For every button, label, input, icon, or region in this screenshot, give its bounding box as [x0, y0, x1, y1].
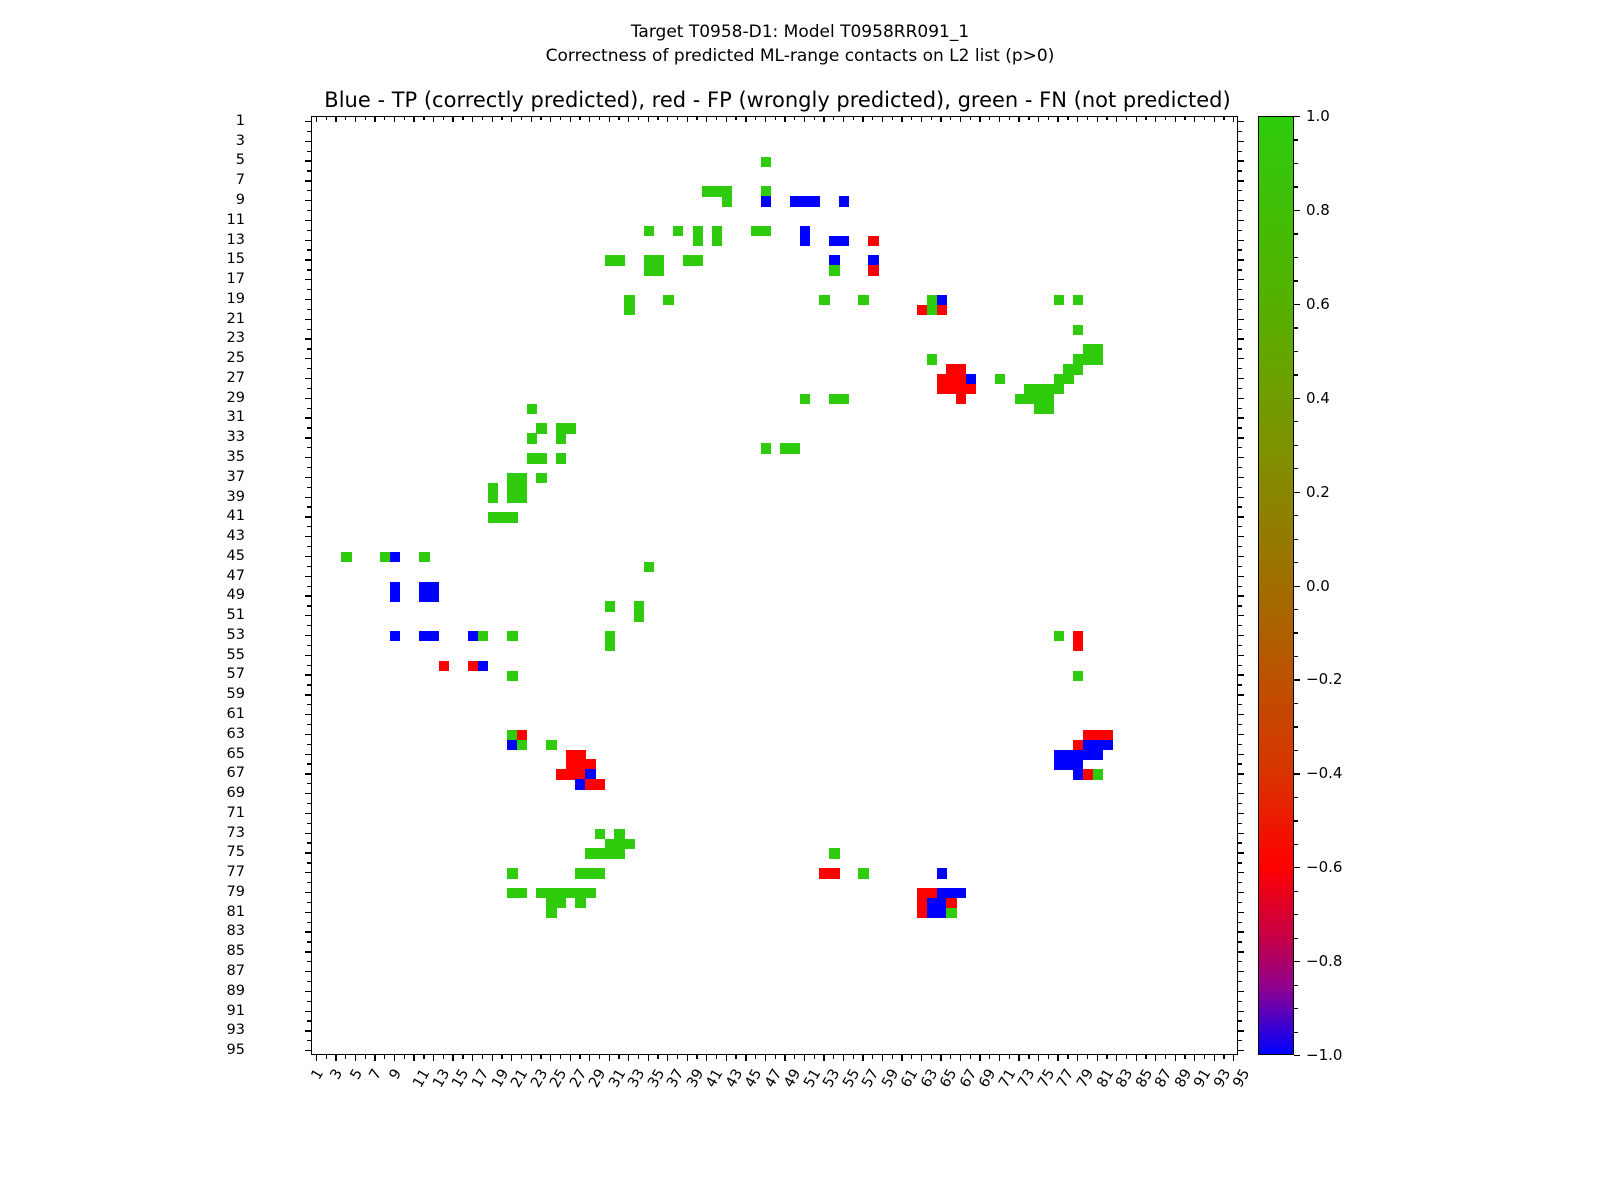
colorbar-tick-mark [1294, 116, 1300, 117]
y-tick-label: 71 [227, 805, 245, 821]
y-tick-mark [1238, 872, 1244, 873]
x-tick-label: 65 [938, 1066, 961, 1090]
y-tick-mark [1238, 862, 1242, 863]
heatmap-cell-green [595, 829, 605, 839]
y-tick-mark [1238, 289, 1242, 290]
colorbar-minor-tick [1294, 679, 1298, 680]
y-tick-mark [1238, 625, 1242, 626]
y-tick-mark [1238, 674, 1244, 675]
heatmap-cell-green [1093, 354, 1103, 364]
heatmap-cell-green [722, 196, 732, 206]
heatmap-cell-green [858, 868, 868, 878]
x-tick-label: 35 [645, 1066, 668, 1090]
x-tick-label: 7 [367, 1066, 385, 1082]
x-tick-label: 43 [723, 1066, 746, 1090]
y-tick-mark [1238, 230, 1242, 231]
y-tick-mark [1238, 467, 1242, 468]
y-tick-label: 75 [227, 844, 245, 860]
y-tick-mark [1238, 823, 1242, 824]
heatmap-cell-green [829, 265, 839, 275]
y-tick-label: 9 [236, 192, 245, 208]
x-tick-label: 93 [1211, 1066, 1234, 1090]
y-tick-mark [1238, 536, 1244, 537]
heatmap-cell-green [693, 255, 703, 265]
heatmap-cell-green [507, 671, 517, 681]
x-tick-label: 5 [348, 1066, 366, 1082]
y-tick-label: 95 [227, 1042, 245, 1058]
heatmap-cell-green [634, 611, 644, 621]
y-tick-mark [1238, 309, 1242, 310]
heatmap-cell-red [956, 394, 966, 404]
y-tick-mark [1238, 922, 1242, 923]
heatmap-cell-green [507, 868, 517, 878]
heatmap-cell-green [527, 433, 537, 443]
y-tick-label: 73 [227, 825, 245, 841]
heatmap-cell-blue [390, 631, 400, 641]
y-tick-mark [1238, 852, 1244, 853]
y-tick-label: 81 [227, 904, 245, 920]
y-tick-mark [1238, 388, 1242, 389]
y-tick-mark [1238, 833, 1244, 834]
y-tick-label: 3 [236, 133, 245, 149]
colorbar-tick-mark [1294, 210, 1300, 211]
y-tick-mark [1238, 655, 1244, 656]
colorbar-minor-tick [1294, 233, 1298, 234]
y-tick-mark [1238, 358, 1244, 359]
y-tick-label: 65 [227, 746, 245, 762]
heatmap-cell-green [605, 631, 615, 641]
y-axis-labels: 1357911131517192123252729313335373941434… [0, 116, 311, 1055]
y-tick-label: 35 [227, 449, 245, 465]
y-tick-label: 45 [227, 548, 245, 564]
y-tick-mark [1238, 892, 1244, 893]
heatmap-cell-green [556, 453, 566, 463]
heatmap-cell-green [517, 483, 527, 493]
x-tick-label: 3 [328, 1066, 346, 1082]
heatmap-cell-blue [800, 226, 810, 236]
heatmap-cell-green [712, 236, 722, 246]
y-tick-label: 61 [227, 706, 245, 722]
x-tick-label: 47 [762, 1066, 785, 1090]
heatmap-cell-green [595, 868, 605, 878]
heatmap-cell-green [790, 443, 800, 453]
colorbar-tick-label: −0.4 [1306, 764, 1342, 782]
y-tick-label: 89 [227, 983, 245, 999]
y-tick-mark [1238, 131, 1242, 132]
heatmap-cell-green [478, 631, 488, 641]
colorbar-minor-tick [1294, 609, 1298, 610]
heatmap-cell-green [536, 453, 546, 463]
heatmap-cell-blue [390, 552, 400, 562]
x-tick-label: 27 [567, 1066, 590, 1090]
y-tick-mark [1238, 220, 1244, 221]
y-tick-label: 17 [227, 271, 245, 287]
x-tick-label: 57 [860, 1066, 883, 1090]
y-tick-mark [1238, 842, 1242, 843]
heatmap-cell-green [556, 898, 566, 908]
colorbar-minor-tick [1294, 914, 1298, 915]
x-tick-label: 69 [977, 1066, 1000, 1090]
y-tick-mark [1238, 249, 1242, 250]
colorbar-minor-tick [1294, 280, 1298, 281]
y-tick-mark [1238, 151, 1242, 152]
y-tick-label: 63 [227, 726, 245, 742]
y-tick-mark [1238, 338, 1244, 339]
colorbar-tick-label: 0.0 [1306, 577, 1330, 595]
heatmap-cell-red [937, 305, 947, 315]
y-tick-label: 67 [227, 765, 245, 781]
y-tick-mark [1238, 417, 1244, 418]
colorbar-minor-tick [1294, 750, 1298, 751]
heatmap-cell-green [624, 295, 634, 305]
heatmap-cell-green [546, 908, 556, 918]
heatmap-cell-green [624, 839, 634, 849]
heatmap-cell-green [634, 601, 644, 611]
y-tick-mark [1238, 576, 1244, 577]
y-tick-mark [1238, 566, 1242, 567]
y-tick-label: 59 [227, 686, 245, 702]
x-tick-label: 23 [528, 1066, 551, 1090]
x-tick-label: 59 [879, 1066, 902, 1090]
heatmap-cell-green [614, 848, 624, 858]
y-tick-mark [1238, 645, 1242, 646]
x-tick-label: 33 [625, 1066, 648, 1090]
y-tick-mark [1238, 506, 1242, 507]
y-tick-label: 83 [227, 923, 245, 939]
heatmap-cell-green [644, 226, 654, 236]
y-tick-mark [1238, 1020, 1242, 1021]
x-tick-label: 37 [664, 1066, 687, 1090]
colorbar-minor-tick [1294, 539, 1298, 540]
y-tick-label: 5 [236, 152, 245, 168]
heatmap-cell-green [673, 226, 683, 236]
heatmap-cell-green [693, 226, 703, 236]
heatmap-cell-blue [478, 661, 488, 671]
y-tick-mark [1238, 497, 1244, 498]
x-tick-label: 25 [547, 1066, 570, 1090]
x-tick-label: 13 [430, 1066, 453, 1090]
colorbar-tick-label: 0.8 [1306, 201, 1330, 219]
y-tick-mark [1238, 912, 1244, 913]
y-tick-label: 79 [227, 884, 245, 900]
contact-map-plot [311, 116, 1238, 1055]
title-line-1: Target T0958-D1: Model T0958RR091_1 [0, 20, 1600, 44]
heatmap-cell-green [488, 493, 498, 503]
colorbar-tick-mark [1294, 586, 1300, 587]
colorbar-minor-tick [1294, 257, 1298, 258]
y-tick-label: 13 [227, 232, 245, 248]
heatmap-cell-blue [956, 888, 966, 898]
y-tick-mark [1238, 704, 1242, 705]
y-tick-mark [1238, 783, 1242, 784]
x-tick-label: 55 [840, 1066, 863, 1090]
figure-root: Target T0958-D1: Model T0958RR091_1 Corr… [0, 0, 1600, 1200]
y-tick-mark [1238, 813, 1244, 814]
x-tick-label: 63 [918, 1066, 941, 1090]
y-tick-mark [1238, 299, 1244, 300]
heatmap-cell-blue [429, 582, 439, 592]
colorbar-minor-tick [1294, 327, 1298, 328]
x-tick-label: 49 [781, 1066, 804, 1090]
y-tick-label: 1 [236, 113, 245, 129]
colorbar-minor-tick [1294, 515, 1298, 516]
y-tick-label: 43 [227, 528, 245, 544]
colorbar-minor-tick [1294, 985, 1298, 986]
colorbar-tick-label: 0.2 [1306, 483, 1330, 501]
y-tick-mark [1238, 931, 1244, 932]
y-tick-mark [1238, 319, 1244, 320]
y-tick-mark [1238, 763, 1242, 764]
heatmap-cell-green [1054, 631, 1064, 641]
title-line-2: Correctness of predicted ML-range contac… [0, 44, 1600, 68]
y-tick-mark [1238, 408, 1242, 409]
colorbar-minor-tick [1294, 844, 1298, 845]
heatmap-cell-red [946, 898, 956, 908]
y-tick-mark [1238, 971, 1244, 972]
heatmap-cell-green [761, 226, 771, 236]
heatmap-cell-green [663, 295, 673, 305]
colorbar-tick-label: −0.2 [1306, 670, 1342, 688]
x-tick-label: 77 [1055, 1066, 1078, 1090]
colorbar-minor-tick [1294, 632, 1298, 633]
heatmap-cell-blue [1093, 750, 1103, 760]
heatmap-cell-blue [839, 236, 849, 246]
heatmap-cell-blue [761, 196, 771, 206]
colorbar-tick-mark [1294, 398, 1300, 399]
heatmap-cell-blue [810, 196, 820, 206]
y-tick-mark [1238, 447, 1242, 448]
x-tick-label: 67 [957, 1066, 980, 1090]
y-tick-mark [1238, 141, 1244, 142]
y-tick-mark [1238, 437, 1244, 438]
x-tick-label: 17 [469, 1066, 492, 1090]
heatmap-cell-green [507, 631, 517, 641]
y-tick-mark [1238, 368, 1242, 369]
x-tick-label: 61 [899, 1066, 922, 1090]
y-tick-mark [1238, 793, 1244, 794]
y-tick-mark [1238, 724, 1242, 725]
heatmap-cell-green [566, 423, 576, 433]
heatmap-cell-green [585, 888, 595, 898]
heatmap-cell-green [1073, 325, 1083, 335]
heatmap-cell-green [517, 493, 527, 503]
y-tick-mark [1238, 635, 1244, 636]
x-tick-label: 87 [1152, 1066, 1175, 1090]
colorbar-minor-tick [1294, 139, 1298, 140]
x-tick-label: 79 [1074, 1066, 1097, 1090]
y-tick-label: 69 [227, 785, 245, 801]
y-tick-label: 51 [227, 607, 245, 623]
y-tick-label: 25 [227, 350, 245, 366]
heatmap-cell-blue [429, 591, 439, 601]
y-tick-mark [1238, 398, 1244, 399]
y-tick-label: 15 [227, 251, 245, 267]
y-tick-label: 21 [227, 311, 245, 327]
x-tick-label: 91 [1191, 1066, 1214, 1090]
y-tick-label: 7 [236, 172, 245, 188]
heatmap-cell-green [527, 404, 537, 414]
heatmap-cell-red [439, 661, 449, 671]
heatmap-cell-green [712, 226, 722, 236]
heatmap-cell-green [556, 433, 566, 443]
colorbar-tick-mark [1294, 492, 1300, 493]
y-tick-label: 87 [227, 963, 245, 979]
y-tick-mark [1238, 329, 1242, 330]
heatmap-cell-green [488, 483, 498, 493]
y-tick-mark [1238, 1030, 1244, 1031]
y-tick-mark [1238, 1001, 1242, 1002]
y-tick-label: 55 [227, 647, 245, 663]
heatmap-cell-green [517, 740, 527, 750]
y-tick-label: 49 [227, 587, 245, 603]
colorbar-tick-mark [1294, 304, 1300, 305]
y-tick-mark [1238, 941, 1242, 942]
heatmap-cells [312, 117, 1237, 1054]
y-tick-mark [1238, 684, 1242, 685]
y-tick-label: 77 [227, 864, 245, 880]
y-tick-mark [1238, 991, 1244, 992]
x-tick-label: 53 [821, 1066, 844, 1090]
x-tick-label: 29 [586, 1066, 609, 1090]
y-tick-label: 53 [227, 627, 245, 643]
heatmap-cell-green [927, 354, 937, 364]
heatmap-cell-green [1073, 364, 1083, 374]
y-tick-label: 11 [227, 212, 245, 228]
heatmap-cell-blue [390, 582, 400, 592]
y-tick-mark [1238, 615, 1244, 616]
heatmap-cell-green [829, 848, 839, 858]
y-tick-mark [1238, 546, 1242, 547]
heatmap-cell-blue [937, 868, 947, 878]
y-tick-label: 29 [227, 390, 245, 406]
x-tick-label: 39 [684, 1066, 707, 1090]
heatmap-cell-green [1093, 769, 1103, 779]
heatmap-cell-green [995, 374, 1005, 384]
heatmap-cell-green [644, 562, 654, 572]
y-tick-label: 23 [227, 330, 245, 346]
y-tick-label: 85 [227, 943, 245, 959]
heatmap-cell-red [1073, 641, 1083, 651]
x-tick-label: 45 [742, 1066, 765, 1090]
x-tick-label: 71 [996, 1066, 1019, 1090]
colorbar-minor-tick [1294, 938, 1298, 939]
y-tick-mark [1238, 348, 1242, 349]
x-tick-label: 83 [1113, 1066, 1136, 1090]
x-tick-label: 15 [450, 1066, 473, 1090]
heatmap-cell-green [605, 601, 615, 611]
x-tick-label: 51 [801, 1066, 824, 1090]
y-tick-mark [1238, 457, 1244, 458]
y-tick-mark [1238, 595, 1244, 596]
heatmap-cell-green [1073, 671, 1083, 681]
heatmap-cell-green [819, 295, 829, 305]
x-tick-label: 85 [1133, 1066, 1156, 1090]
colorbar-minor-tick [1294, 468, 1298, 469]
y-tick-mark [1238, 586, 1242, 587]
heatmap-cell-green [1044, 394, 1054, 404]
colorbar-minor-tick [1294, 1008, 1298, 1009]
y-tick-mark [1238, 961, 1242, 962]
y-tick-mark [1238, 200, 1244, 201]
y-tick-mark [1238, 1011, 1244, 1012]
heatmap-cell-red [517, 730, 527, 740]
y-tick-label: 57 [227, 666, 245, 682]
y-tick-mark [1238, 882, 1242, 883]
heatmap-cell-green [1093, 344, 1103, 354]
heatmap-cell-blue [390, 591, 400, 601]
y-tick-mark [1238, 605, 1242, 606]
heatmap-cell-green [536, 423, 546, 433]
y-tick-mark [1238, 269, 1242, 270]
heatmap-cell-red [1102, 730, 1112, 740]
heatmap-cell-green [800, 394, 810, 404]
y-tick-mark [1238, 378, 1244, 379]
y-tick-label: 91 [227, 1003, 245, 1019]
colorbar-minor-tick [1294, 961, 1298, 962]
heatmap-cell-green [1054, 384, 1064, 394]
heatmap-cell-green [1063, 374, 1073, 384]
y-tick-label: 47 [227, 568, 245, 584]
y-tick-label: 19 [227, 291, 245, 307]
heatmap-cell-green [341, 552, 351, 562]
heatmap-cell-blue [839, 196, 849, 206]
y-tick-mark [1238, 487, 1242, 488]
heatmap-cell-red [966, 384, 976, 394]
figure-title: Target T0958-D1: Model T0958RR091_1 Corr… [0, 20, 1600, 68]
y-tick-mark [1238, 694, 1244, 695]
x-tick-label: 19 [489, 1066, 512, 1090]
heatmap-cell-blue [1102, 740, 1112, 750]
heatmap-cell-green [575, 898, 585, 908]
colorbar-tick-label: −1.0 [1306, 1046, 1342, 1064]
y-tick-label: 31 [227, 409, 245, 425]
y-tick-mark [1238, 902, 1242, 903]
y-tick-mark [1238, 951, 1244, 952]
y-tick-mark [1238, 121, 1244, 122]
x-tick-label: 41 [703, 1066, 726, 1090]
y-tick-label: 37 [227, 469, 245, 485]
heatmap-cell-green [624, 305, 634, 315]
colorbar-minor-tick [1294, 773, 1298, 774]
heatmap-cell-green [946, 908, 956, 918]
heatmap-cell-green [1044, 404, 1054, 414]
x-tick-label: 9 [387, 1066, 405, 1082]
colorbar-minor-tick [1294, 163, 1298, 164]
y-tick-mark [1238, 665, 1242, 666]
y-tick-mark [1238, 279, 1244, 280]
colorbar-minor-tick [1294, 445, 1298, 446]
y-tick-mark [1238, 427, 1242, 428]
heatmap-cell-green [1073, 295, 1083, 305]
y-tick-label: 41 [227, 508, 245, 524]
heatmap-cell-green [614, 255, 624, 265]
heatmap-cell-green [517, 888, 527, 898]
colorbar-tick-label: −0.6 [1306, 858, 1342, 876]
y-tick-mark [1238, 803, 1242, 804]
colorbar-minor-tick [1294, 374, 1298, 375]
y-tick-mark [1238, 170, 1242, 171]
y-tick-label: 33 [227, 429, 245, 445]
y-tick-mark [1238, 754, 1244, 755]
colorbar-tick-mark [1294, 1055, 1300, 1056]
colorbar-ticks: 1.00.80.60.40.20.0−0.2−0.4−0.6−0.8−1.0 [1258, 116, 1358, 1055]
y-tick-mark [1238, 516, 1244, 517]
colorbar-minor-tick [1294, 562, 1298, 563]
x-tick-label: 11 [411, 1066, 434, 1090]
y-tick-mark [1238, 259, 1244, 260]
y-tick-mark [1238, 1040, 1242, 1041]
colorbar-tick-label: 0.4 [1306, 389, 1330, 407]
